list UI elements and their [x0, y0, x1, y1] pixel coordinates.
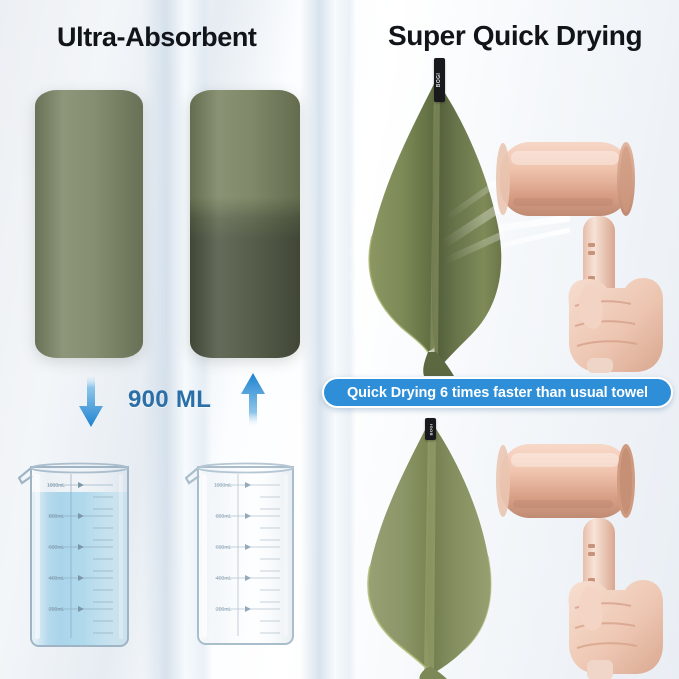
svg-text:200mL: 200mL: [216, 607, 232, 613]
brand-tag-label: BOGI: [437, 73, 443, 87]
svg-text:400mL: 400mL: [49, 576, 65, 582]
towel-hang-tag-bottom: BOGI: [425, 418, 436, 440]
svg-text:800mL: 800mL: [49, 514, 65, 520]
background-seam-mid: [300, 0, 356, 679]
hair-dryer-bottom: [495, 432, 679, 679]
svg-text:600mL: 600mL: [216, 545, 232, 551]
svg-text:800mL: 800mL: [216, 514, 232, 520]
hair-dryer-top: [495, 128, 679, 373]
svg-text:600mL: 600mL: [49, 545, 65, 551]
quick-drying-banner: Quick Drying 6 times faster than usual t…: [322, 377, 673, 408]
towel-roll-wet: [190, 90, 300, 358]
heading-ultra-absorbent: Ultra-Absorbent: [57, 22, 257, 53]
svg-text:1000mL: 1000mL: [47, 483, 65, 489]
banner-text: Quick Drying 6 times faster than usual t…: [347, 385, 648, 401]
svg-text:1000mL: 1000mL: [214, 483, 232, 489]
towel-roll-dry: [35, 90, 143, 358]
towel-hang-tag-top: BOGI: [434, 58, 445, 102]
product-infographic: Ultra-Absorbent Super Quick Drying: [0, 0, 679, 679]
heading-super-quick-drying: Super Quick Drying: [388, 20, 642, 52]
volume-label: 900 ML: [128, 386, 211, 414]
svg-text:400mL: 400mL: [216, 576, 232, 582]
brand-tag-label-bottom: BOGI: [428, 423, 433, 435]
beaker-empty: 1000mL800mL 600mL400mL 200mL: [185, 452, 303, 648]
arrow-down-icon: [78, 372, 104, 428]
arrow-up-icon: [240, 372, 266, 428]
svg-text:200mL: 200mL: [49, 607, 65, 613]
beaker-with-water: 1000mL800mL 600mL400mL 200mL: [18, 452, 138, 650]
